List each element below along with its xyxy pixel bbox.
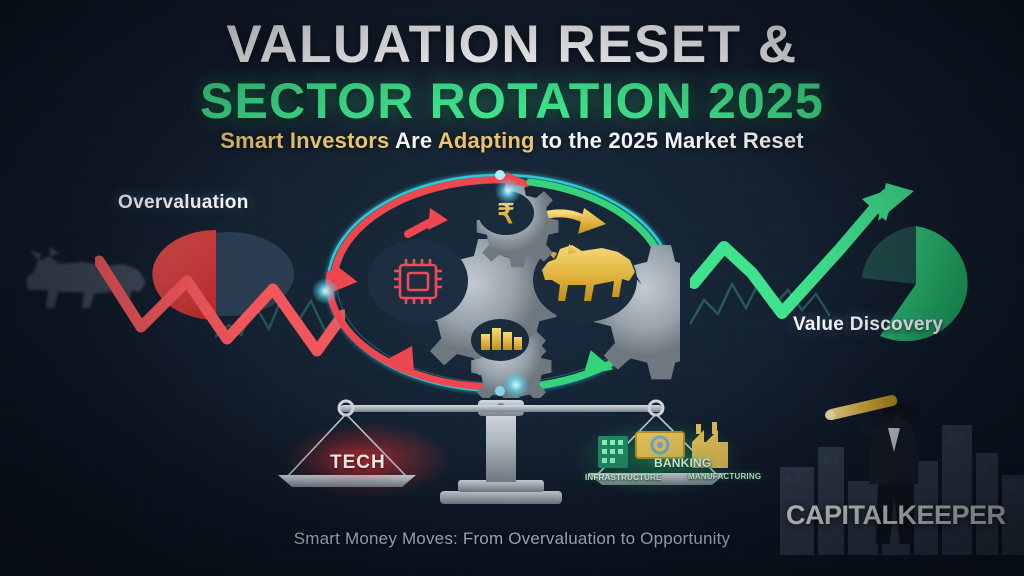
subtitle-part-3: Adapting [438, 128, 535, 153]
overvaluation-label: Overvaluation [118, 192, 249, 214]
headline-line-2: SECTOR ROTATION 2025 [0, 76, 1024, 126]
capitalkeeper-logo: CAPITALKEEPER [786, 500, 1006, 531]
tech-pan-label: TECH [330, 452, 386, 474]
infographic-canvas: Overvaluation Value Discovery [0, 0, 1024, 576]
headline-subtitle: Smart Investors Are Adapting to the 2025… [0, 128, 1024, 154]
subtitle-part-1: Smart Investors [220, 128, 389, 153]
banking-pan-label: BANKING [654, 456, 711, 470]
declining-trend-line [95, 255, 345, 365]
office-building-icon [598, 436, 628, 468]
bull-gear [533, 238, 680, 379]
infrastructure-pan-label: INFRASTRUCTURE [585, 473, 662, 482]
sparkle-top [495, 178, 521, 204]
subtitle-part-2: Are [389, 128, 437, 153]
manufacturing-pan-label: MANUFACTURING [688, 472, 761, 481]
valuation-balance-scale [272, 388, 752, 508]
value-discovery-label: Value Discovery [793, 314, 943, 336]
banknote-icon [636, 432, 684, 458]
sparkle-left [312, 278, 338, 304]
sector-rotation-gear-cluster: ₹ [320, 168, 680, 398]
subtitle-part-4: to the 2025 Market Reset [535, 128, 804, 153]
headline-line-1: VALUATION RESET & [0, 18, 1024, 71]
footer-caption: Smart Money Moves: From Overvaluation to… [0, 529, 1024, 549]
